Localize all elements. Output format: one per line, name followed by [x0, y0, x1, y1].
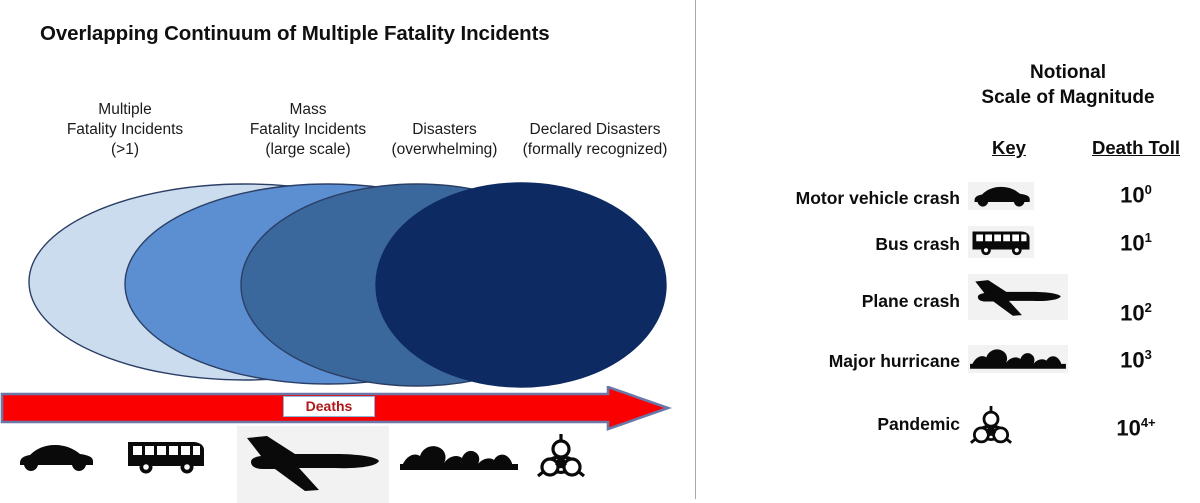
toll-exponent: 2 — [1145, 300, 1152, 315]
row-key-motor-vehicle-crash — [968, 182, 1078, 214]
biohazard-icon — [968, 403, 1014, 451]
scale-title-line-1: Notional — [936, 60, 1200, 85]
table-row: Pandemic — [696, 405, 1200, 453]
toll-exponent: 4+ — [1141, 415, 1156, 430]
magnitude-scale-panel: Notional Scale of Magnitude Key Death To… — [696, 0, 1200, 499]
row-death-toll-major-hurricane: 103 — [1076, 347, 1196, 373]
stage-label-disasters: Disasters (overwhelming) — [372, 120, 517, 160]
row-key-plane-crash — [968, 274, 1078, 324]
stage-line-1: Disasters — [372, 120, 517, 140]
stage-line-1: Multiple — [30, 100, 220, 120]
row-death-toll-bus-crash: 101 — [1076, 230, 1196, 256]
row-label-pandemic: Pandemic — [730, 414, 960, 435]
toll-base: 10 — [1120, 300, 1144, 325]
row-label-plane-crash: Plane crash — [730, 291, 960, 312]
stage-label-declared-disasters: Declared Disasters (formally recognized) — [500, 120, 690, 160]
hurricane-icon — [400, 442, 518, 479]
column-header-death-toll: Death Toll — [1071, 137, 1200, 159]
toll-base: 10 — [1120, 182, 1144, 207]
toll-exponent: 1 — [1145, 230, 1152, 245]
plane-icon — [968, 274, 1068, 320]
toll-base: 10 — [1120, 347, 1144, 372]
hurricane-icon — [968, 345, 1068, 373]
stage-line-2: (formally recognized) — [500, 140, 690, 160]
stage-line-2: (overwhelming) — [372, 140, 517, 160]
row-label-bus-crash: Bus crash — [730, 234, 960, 255]
row-death-toll-pandemic: 104+ — [1076, 415, 1196, 441]
bus-icon — [125, 436, 207, 481]
toll-base: 10 — [1116, 415, 1140, 440]
table-row: Plane crash 102 — [696, 278, 1200, 326]
infographic-root: Overlapping Continuum of Multiple Fatali… — [0, 0, 1200, 499]
scale-title-line-2: Scale of Magnitude — [936, 85, 1200, 110]
ellipse-declared-disasters — [376, 183, 666, 387]
toll-base: 10 — [1120, 230, 1144, 255]
row-label-major-hurricane: Major hurricane — [730, 351, 960, 372]
overlapping-ellipses — [0, 170, 695, 400]
bus-icon — [968, 226, 1034, 258]
stage-line-3: (>1) — [30, 140, 220, 160]
row-key-pandemic — [968, 403, 1078, 455]
toll-exponent: 3 — [1145, 347, 1152, 362]
table-row: Bus crash — [696, 226, 1200, 274]
row-key-major-hurricane — [968, 345, 1078, 377]
stage-label-row: Multiple Fatality Incidents (>1) Mass Fa… — [20, 96, 680, 176]
column-header-key: Key — [964, 137, 1054, 159]
row-death-toll-motor-vehicle-crash: 100 — [1076, 182, 1196, 208]
page-title: Overlapping Continuum of Multiple Fatali… — [40, 22, 660, 46]
table-row: Major hurricane 103 — [696, 341, 1200, 389]
table-row: Motor vehicle crash 100 — [696, 178, 1200, 226]
stage-line-1: Declared Disasters — [500, 120, 690, 140]
row-label-motor-vehicle-crash: Motor vehicle crash — [730, 188, 960, 209]
stage-line-2: Fatality Incidents — [30, 120, 220, 140]
row-key-bus-crash — [968, 226, 1078, 262]
severity-icon-strip — [0, 424, 680, 499]
biohazard-icon — [537, 432, 585, 489]
car-icon — [968, 182, 1034, 210]
deaths-axis-label: Deaths — [283, 396, 375, 417]
continuum-panel: Overlapping Continuum of Multiple Fatali… — [0, 0, 695, 499]
row-death-toll-plane-crash: 102 — [1076, 300, 1196, 326]
car-icon — [14, 440, 96, 479]
toll-exponent: 0 — [1145, 182, 1152, 197]
plane-icon — [237, 426, 389, 503]
scale-title: Notional Scale of Magnitude — [936, 60, 1200, 110]
stage-label-multiple-fatality-incidents: Multiple Fatality Incidents (>1) — [30, 100, 220, 160]
stage-line-1: Mass — [213, 100, 403, 120]
